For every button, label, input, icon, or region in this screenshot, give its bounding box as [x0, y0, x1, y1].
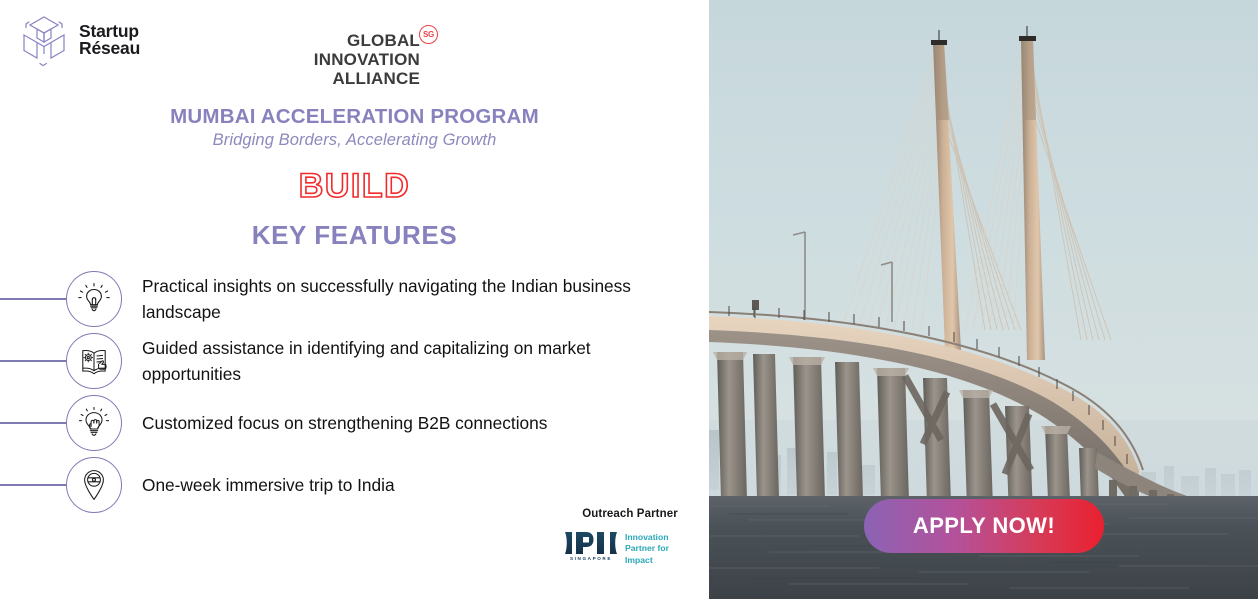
gia-wordmark: GLOBAL INNOVATION ALLIANCE	[290, 31, 420, 89]
connector-line	[0, 422, 72, 424]
page-tagline: Bridging Borders, Accelerating Growth	[0, 131, 709, 150]
gia-line-3: ALLIANCE	[290, 69, 420, 88]
connector-line	[0, 360, 72, 362]
location-pin-india-icon	[77, 468, 111, 502]
ipi-singapore-logo: SINGAPORE Innovation Partner for Impact	[564, 531, 696, 566]
lightbulb-idea-icon	[77, 282, 111, 316]
key-features-list: Practical insights on successfully navig…	[0, 268, 709, 516]
brand-name-line2: Réseau	[79, 40, 140, 58]
outreach-partner-block: Outreach Partner	[564, 508, 696, 566]
apply-now-button[interactable]: APPLY NOW!	[864, 499, 1104, 553]
ipi-tagline-line1: Innovation	[625, 532, 669, 543]
feature-icon-circle	[66, 457, 122, 513]
page-title: MUMBAI ACCELERATION PROGRAM	[0, 105, 709, 129]
marketing-banner: Startup Réseau GLOBAL INNOVATION ALLIANC…	[0, 0, 1258, 599]
sg-badge-icon: SG	[419, 25, 438, 44]
feature-icon-circle	[66, 271, 122, 327]
list-item: Customized focus on strengthening B2B co…	[0, 392, 709, 454]
list-item: Guided assistance in identifying and cap…	[0, 330, 709, 392]
isometric-cube-icon	[18, 13, 70, 67]
list-item: One-week immersive trip to India	[0, 454, 709, 516]
startup-reseau-logo: Startup Réseau	[18, 13, 140, 67]
ipi-tagline: Innovation Partner for Impact	[625, 531, 669, 566]
gia-line-2: INNOVATION	[290, 50, 420, 69]
ipi-tagline-line3: Impact	[625, 555, 669, 566]
feature-text: Guided assistance in identifying and cap…	[142, 335, 687, 388]
feature-text: Practical insights on successfully navig…	[142, 273, 687, 326]
section-heading: KEY FEATURES	[0, 220, 709, 251]
ipi-country-label: SINGAPORE	[564, 556, 618, 561]
feature-text: Customized focus on strengthening B2B co…	[142, 410, 687, 436]
left-content-panel: Startup Réseau GLOBAL INNOVATION ALLIANC…	[0, 0, 709, 599]
global-innovation-alliance-logo: GLOBAL INNOVATION ALLIANCE SG	[290, 31, 420, 89]
lightbulb-fist-icon	[77, 406, 111, 440]
connector-line	[0, 298, 72, 300]
outreach-partner-label: Outreach Partner	[564, 508, 696, 520]
open-book-hand-icon	[77, 344, 111, 378]
feature-text: One-week immersive trip to India	[142, 472, 687, 498]
build-wordmark: BUILD	[0, 167, 709, 206]
feature-icon-circle	[66, 395, 122, 451]
ipi-mark-icon: SINGAPORE	[564, 531, 618, 561]
ipi-tagline-line2: Partner for	[625, 543, 669, 554]
connector-line	[0, 484, 72, 486]
feature-icon-circle	[66, 333, 122, 389]
brand-wordmark: Startup Réseau	[79, 23, 140, 58]
list-item: Practical insights on successfully navig…	[0, 268, 709, 330]
gia-line-1: GLOBAL	[290, 31, 420, 50]
